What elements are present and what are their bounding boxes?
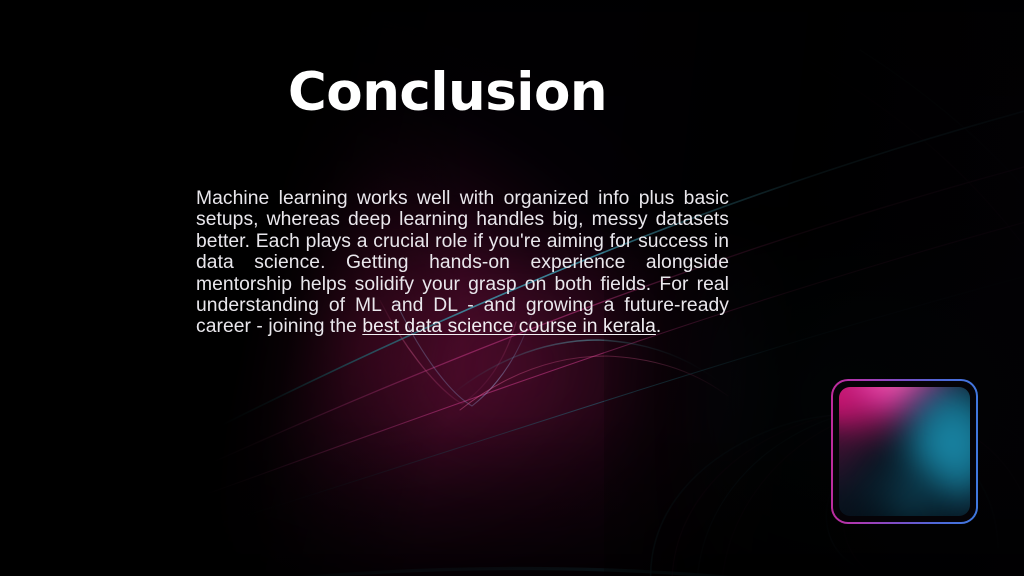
image-gradient-dark-base <box>839 387 970 516</box>
body-paragraph: Machine learning works well with organiz… <box>196 188 729 338</box>
page-title: Conclusion <box>0 66 895 119</box>
paragraph-text-tail: . <box>656 316 661 337</box>
paragraph-text-lead: Machine learning works well with organiz… <box>196 188 729 337</box>
slide-canvas: Conclusion Machine learning works well w… <box>0 0 1024 576</box>
image-thumbnail-card[interactable] <box>831 379 978 524</box>
best-data-science-course-link[interactable]: best data science course in kerala <box>362 316 656 337</box>
abstract-image <box>839 387 970 516</box>
abstract-image-blur <box>839 387 970 516</box>
thumbnail-inner-frame <box>833 381 976 522</box>
